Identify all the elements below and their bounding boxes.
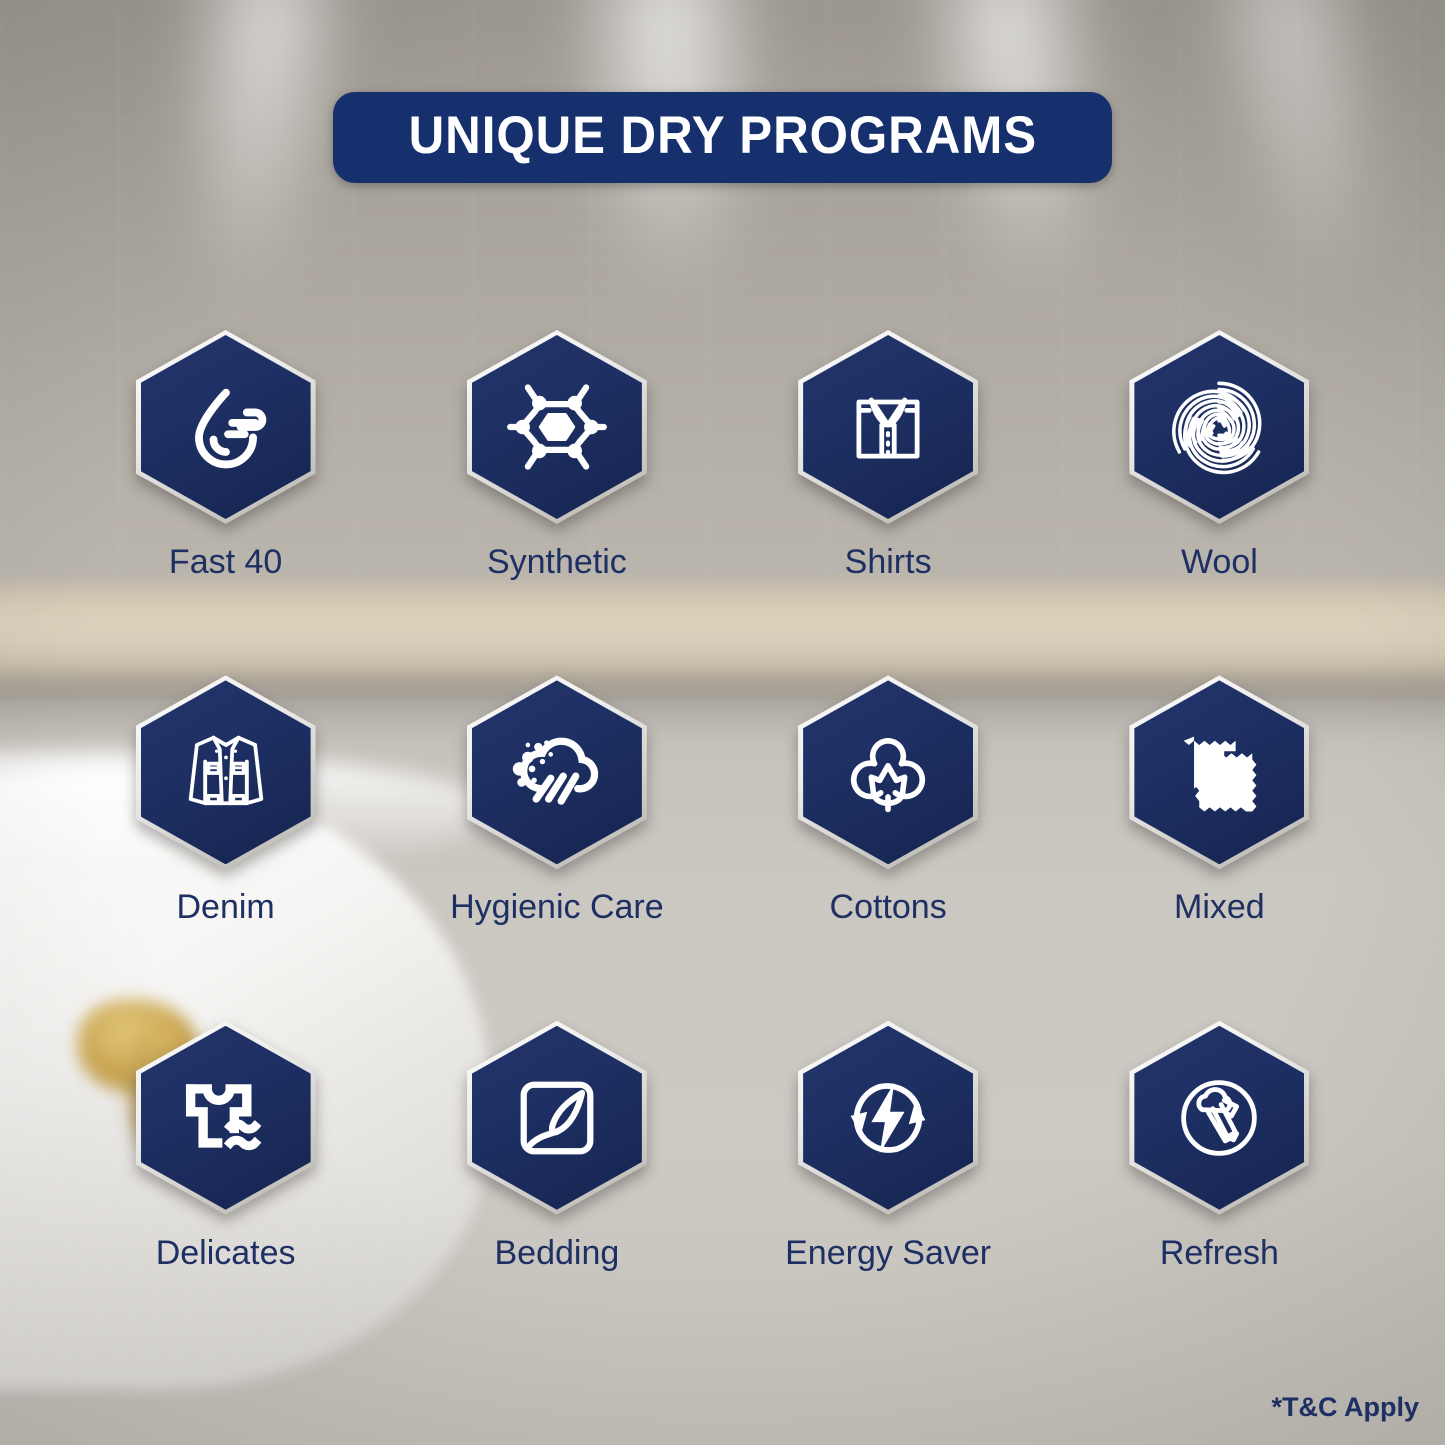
program-item-cottons[interactable]: Cottons <box>723 675 1054 926</box>
badge-hexagon <box>467 330 647 524</box>
badge-hexagon <box>136 1021 316 1215</box>
program-item-delicates[interactable]: Delicates <box>60 1021 391 1272</box>
program-item-energy-saver[interactable]: Energy Saver <box>723 1021 1054 1272</box>
badge-hexagon <box>1129 675 1309 869</box>
page-title: UNIQUE DRY PROGRAMS <box>408 109 1036 162</box>
program-label: Delicates <box>156 1235 296 1272</box>
badge-hexagon <box>136 675 316 869</box>
lightning-recycle-icon <box>836 1066 940 1170</box>
program-label: Bedding <box>494 1235 619 1272</box>
badge-hexagon <box>467 675 647 869</box>
program-label: Cottons <box>830 889 947 926</box>
program-item-synthetic[interactable]: Synthetic <box>391 330 722 581</box>
stacked-fabric-swatches-icon <box>1167 720 1271 824</box>
program-item-fast-40[interactable]: Fast 40 <box>60 330 391 581</box>
title-banner: UNIQUE DRY PROGRAMS <box>333 92 1113 183</box>
program-item-bedding[interactable]: Bedding <box>391 1021 722 1272</box>
program-item-hygienic-care[interactable]: Hygienic Care <box>391 675 722 926</box>
terms-disclaimer: *T&C Apply <box>1272 1392 1420 1423</box>
woolmark-skein-icon <box>1167 375 1271 479</box>
badge-hexagon <box>1129 330 1309 524</box>
program-label: Energy Saver <box>785 1235 991 1272</box>
program-label: Shirts <box>845 544 932 581</box>
program-item-refresh[interactable]: Refresh <box>1054 1021 1385 1272</box>
program-grid: Fast 40 <box>60 330 1385 1272</box>
polymer-molecule-icon <box>505 375 609 479</box>
water-drop-air-icon <box>174 375 278 479</box>
badge-hexagon <box>136 330 316 524</box>
badge-hexagon <box>798 675 978 869</box>
denim-jacket-icon <box>174 720 278 824</box>
program-item-denim[interactable]: Denim <box>60 675 391 926</box>
folded-duvet-icon <box>505 1066 609 1170</box>
program-label: Fast 40 <box>169 544 282 581</box>
program-label: Wool <box>1181 544 1258 581</box>
cotton-boll-icon <box>836 720 940 824</box>
program-label: Hygienic Care <box>450 889 664 926</box>
badge-hexagon <box>798 1021 978 1215</box>
title-area: UNIQUE DRY PROGRAMS <box>0 92 1445 183</box>
program-item-wool[interactable]: Wool <box>1054 330 1385 581</box>
tshirt-waves-icon <box>174 1066 278 1170</box>
program-label: Mixed <box>1174 889 1265 926</box>
steam-garment-circle-icon <box>1167 1066 1271 1170</box>
program-label: Denim <box>177 889 275 926</box>
folded-shirt-icon <box>836 375 940 479</box>
steam-cloud-bubbles-icon <box>505 720 609 824</box>
program-item-shirts[interactable]: Shirts <box>723 330 1054 581</box>
badge-hexagon <box>467 1021 647 1215</box>
badge-hexagon <box>1129 1021 1309 1215</box>
program-label: Refresh <box>1160 1235 1279 1272</box>
program-label: Synthetic <box>487 544 627 581</box>
badge-hexagon <box>798 330 978 524</box>
program-item-mixed[interactable]: Mixed <box>1054 675 1385 926</box>
